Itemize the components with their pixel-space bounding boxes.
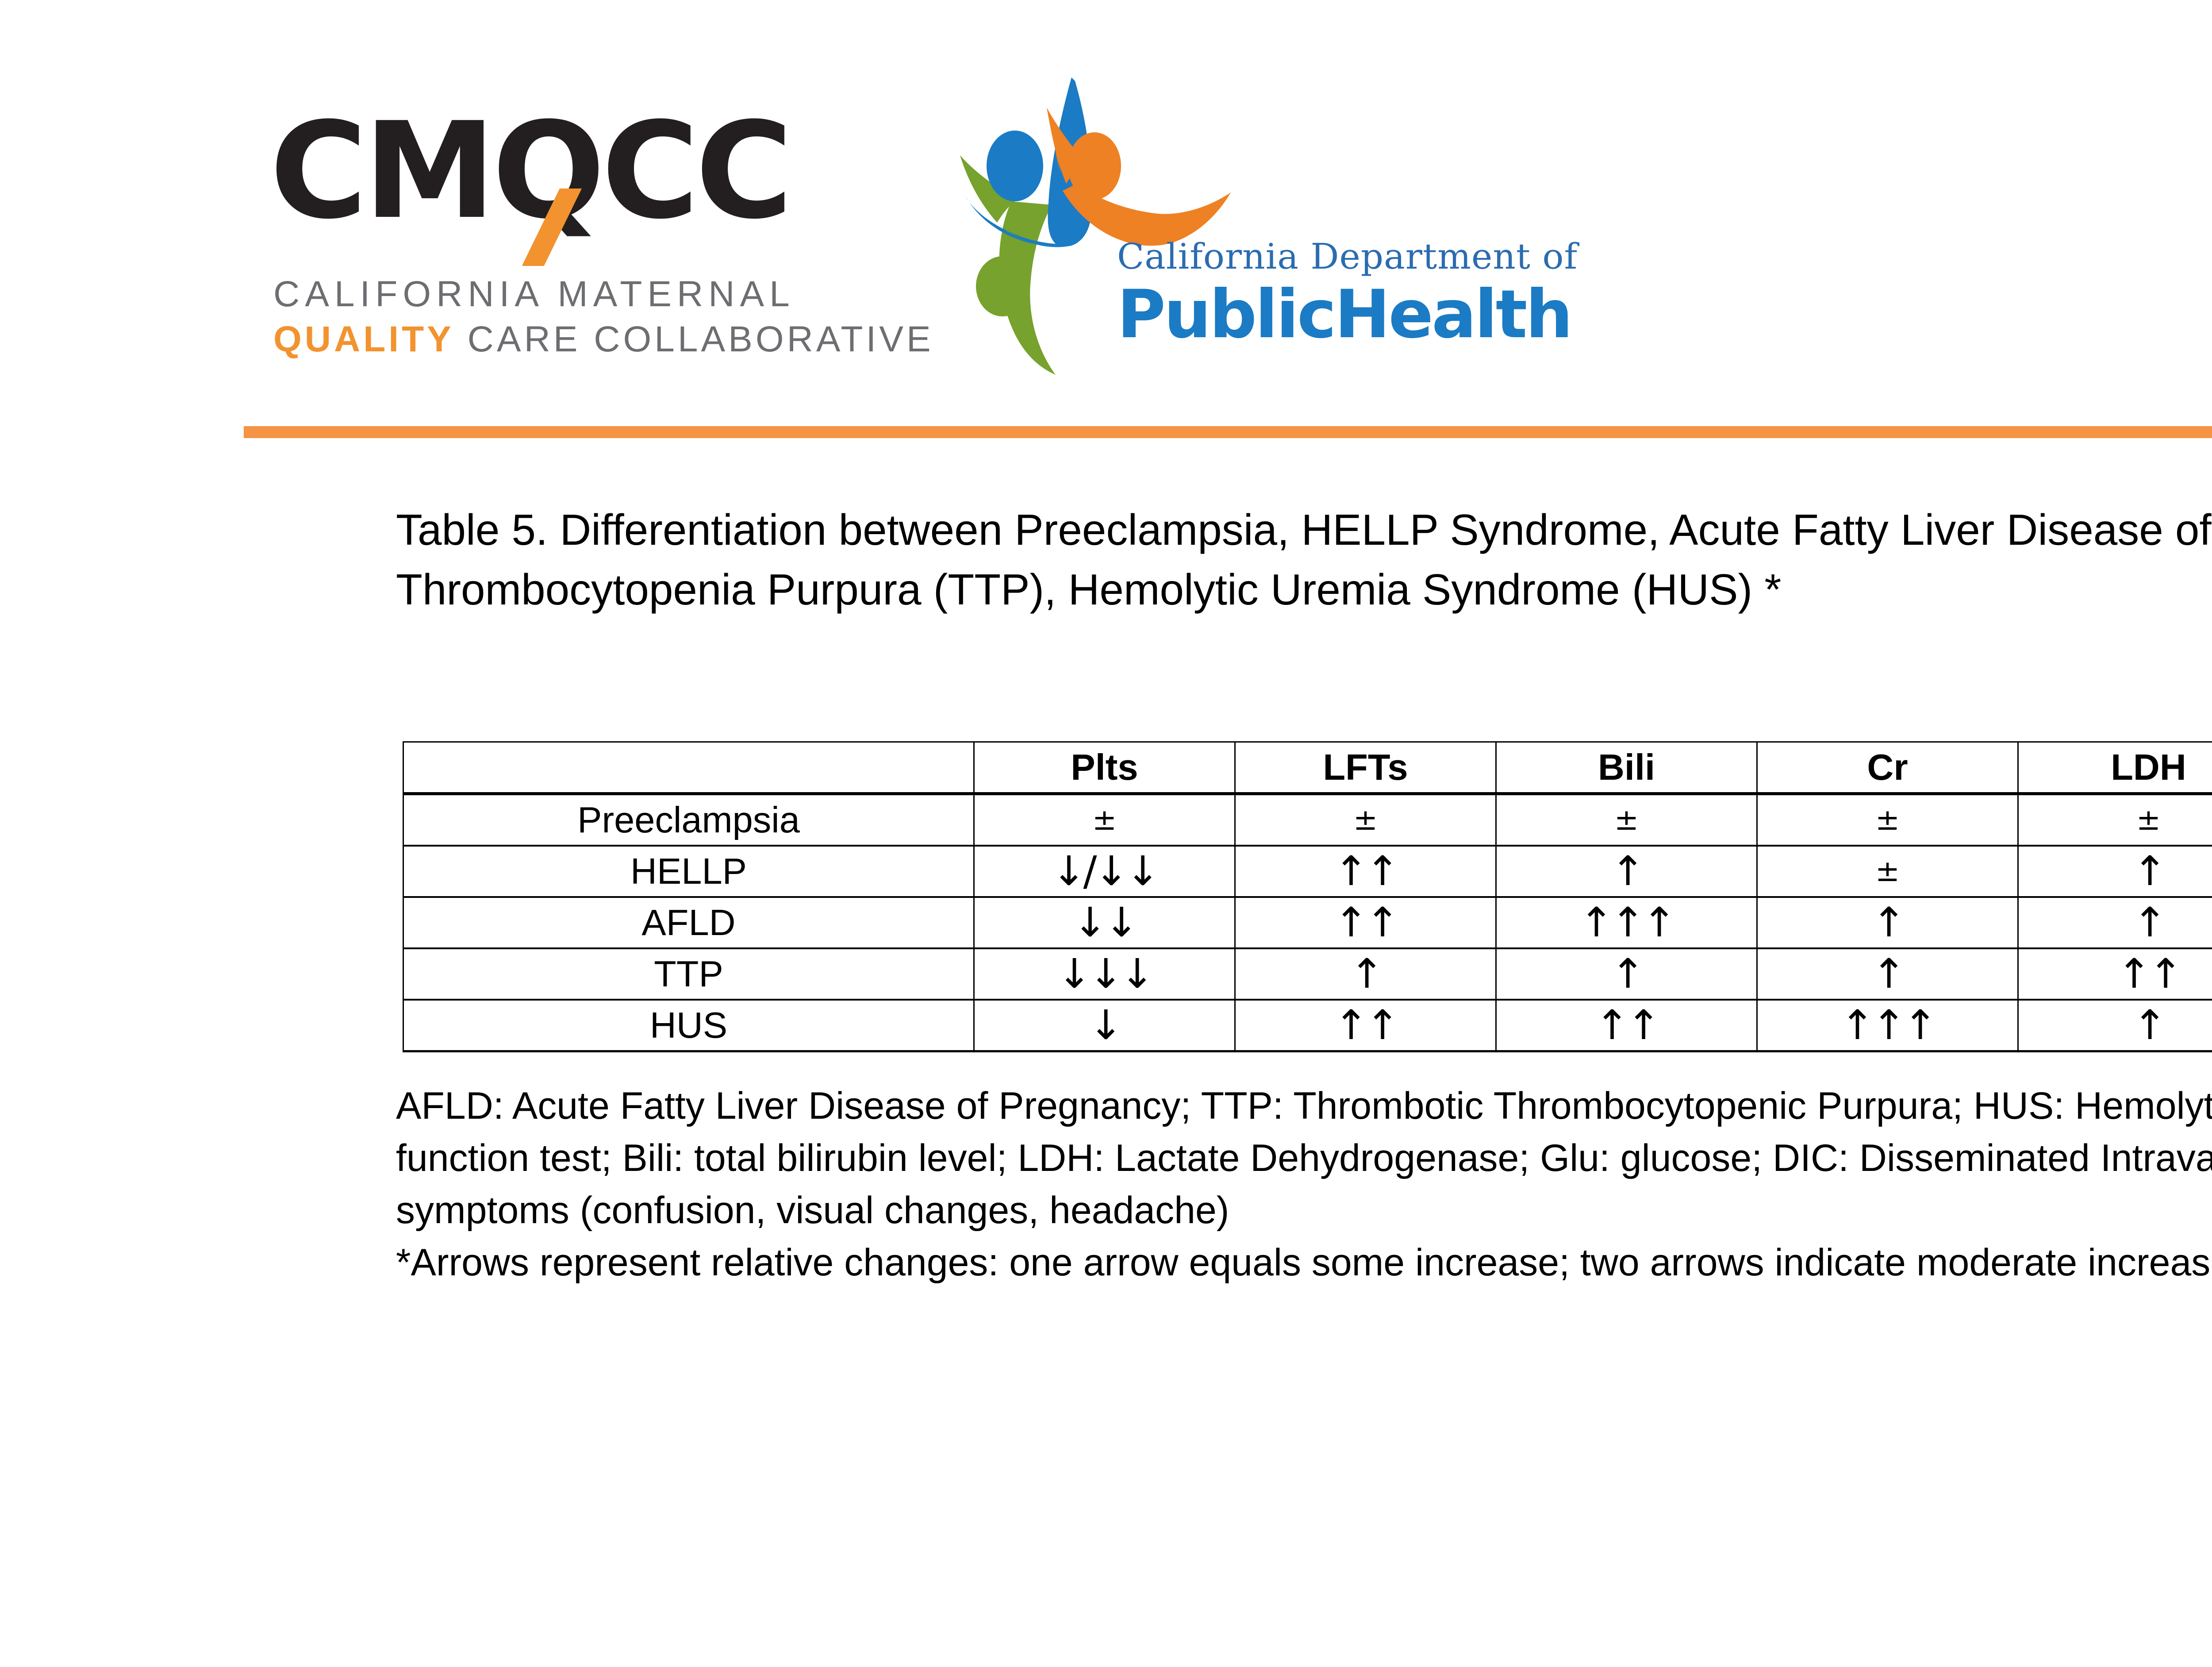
column-header-bili: Bili: [1496, 742, 1757, 794]
orange-divider-rule: [244, 426, 2212, 438]
table-row: HELLP ↓/↓↓ ↑↑ ↑ ± ↑ → ± ±: [403, 846, 2212, 897]
cell-ttp-lfts: ↑: [1235, 948, 1496, 1000]
cmqcc-tagline-quality: QUALITY: [273, 319, 454, 359]
column-header-ldh: LDH: [2018, 742, 2212, 794]
cell-ttp-plts: ↓↓↓: [974, 948, 1235, 1000]
cell-afld-lfts: ↑↑: [1235, 897, 1496, 948]
cmqcc-logo: CMQCC CALIFORNIA MATERNAL QUALITY CARE C…: [270, 111, 841, 385]
cell-preeclampsia-ldh: ±: [2018, 794, 2212, 846]
cell-hus-plts: ↓: [974, 1000, 1235, 1051]
table-footnotes: AFLD: Acute Fatty Liver Disease of Pregn…: [396, 1080, 2212, 1289]
cell-hellp-bili: ↑: [1496, 846, 1757, 897]
table-row: AFLD ↓↓ ↑↑ ↑↑↑ ↑ ↑ ↓↓↓ ↑↑↑ ±: [403, 897, 2212, 948]
row-label-afld: AFLD: [403, 897, 974, 948]
cdph-logo: California Department of PublicHealth: [942, 69, 1522, 387]
row-label-ttp: TTP: [403, 948, 974, 1000]
cdph-logo-line1: California Department of: [1117, 237, 1515, 277]
cell-preeclampsia-cr: ±: [1757, 794, 2018, 846]
cell-afld-plts: ↓↓: [974, 897, 1235, 948]
cdph-logo-line2: PublicHealth: [1117, 279, 1515, 350]
cell-hellp-ldh: ↑: [2018, 846, 2212, 897]
page-header: CMQCC CALIFORNIA MATERNAL QUALITY CARE C…: [0, 0, 2212, 447]
table-row: HUS ↓ ↑↑ ↑↑ ↑↑↑ ↑ → ± ±: [403, 1000, 2212, 1051]
cell-ttp-bili: ↑: [1496, 948, 1757, 1000]
cdph-logo-text: California Department of PublicHealth: [1117, 237, 1515, 350]
footnote-arrow-legend: *Arrows represent relative changes: one …: [396, 1236, 2212, 1289]
cmqcc-wordmark: CMQCC: [270, 111, 841, 257]
row-label-hellp: HELLP: [403, 846, 974, 897]
cell-afld-cr: ↑: [1757, 897, 2018, 948]
cmqcc-wordmark-text: CMQCC: [270, 98, 789, 244]
cmqcc-tagline-line1: CALIFORNIA MATERNAL: [273, 273, 795, 315]
cell-hus-cr: ↑↑↑: [1757, 1000, 2018, 1051]
differentiation-table: Plts LFTs Bili Cr LDH Glu DIC CNS Preecl…: [403, 741, 2212, 1052]
column-header-plts: Plts: [974, 742, 1235, 794]
cell-hus-ldh: ↑: [2018, 1000, 2212, 1051]
row-label-hus: HUS: [403, 1000, 974, 1051]
cell-ttp-ldh: ↑↑: [2018, 948, 2212, 1000]
cell-hellp-lfts: ↑↑: [1235, 846, 1496, 897]
table-header-row: Plts LFTs Bili Cr LDH Glu DIC CNS: [403, 742, 2212, 794]
cell-ttp-cr: ↑: [1757, 948, 2018, 1000]
cell-afld-ldh: ↑: [2018, 897, 2212, 948]
table-title: Table 5. Differentiation between Preecla…: [396, 500, 2212, 620]
cell-afld-bili: ↑↑↑: [1496, 897, 1757, 948]
cmqcc-tagline-care-collaborative: CARE COLLABORATIVE: [454, 319, 934, 359]
cmqcc-tagline-line2: QUALITY CARE COLLABORATIVE: [273, 319, 934, 360]
cell-hus-bili: ↑↑: [1496, 1000, 1757, 1051]
cell-hellp-plts: ↓/↓↓: [974, 846, 1235, 897]
cell-preeclampsia-plts: ±: [974, 794, 1235, 846]
column-header-lfts: LFTs: [1235, 742, 1496, 794]
cell-preeclampsia-lfts: ±: [1235, 794, 1496, 846]
cell-preeclampsia-bili: ±: [1496, 794, 1757, 846]
table-row: Preeclampsia ± ± ± ± ± → ± ±: [403, 794, 2212, 846]
table-corner-cell: [403, 742, 974, 794]
row-label-preeclampsia: Preeclampsia: [403, 794, 974, 846]
cell-hus-lfts: ↑↑: [1235, 1000, 1496, 1051]
cell-hellp-cr: ±: [1757, 846, 2018, 897]
table-row: TTP ↓↓↓ ↑ ↑ ↑ ↑↑ → ± ++: [403, 948, 2212, 1000]
column-header-cr: Cr: [1757, 742, 2018, 794]
footnote-abbreviations: AFLD: Acute Fatty Liver Disease of Pregn…: [396, 1080, 2212, 1236]
